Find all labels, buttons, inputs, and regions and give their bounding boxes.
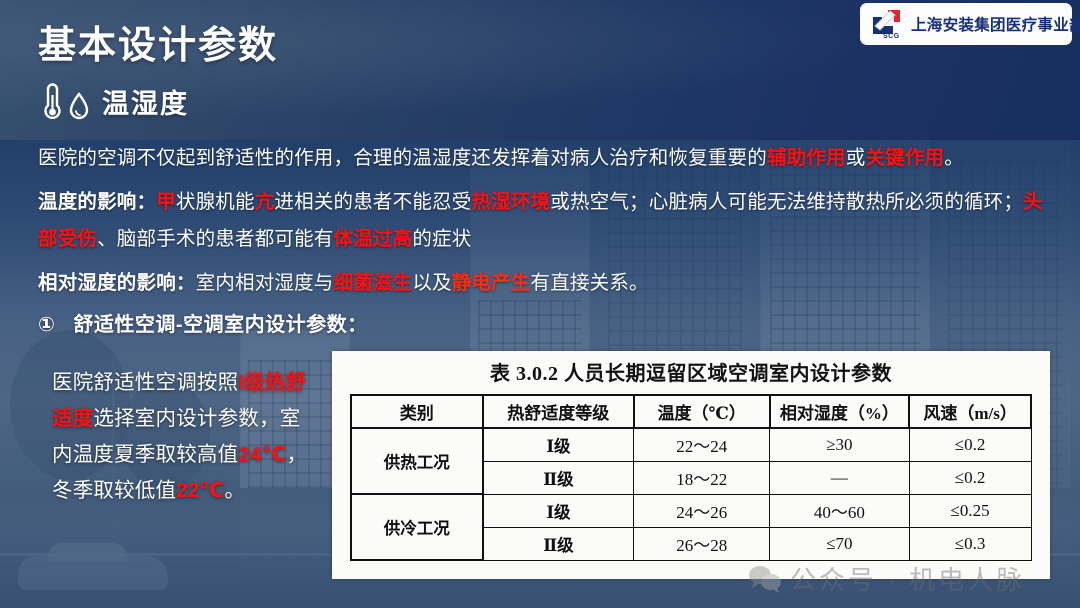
table-header-row: 类别 热舒适度等级 温度（℃） 相对湿度（%） 风速（m/s） [351,395,1031,428]
table-cell-temperature: 24～26 [634,494,770,527]
intro-seg-3: 。 [944,147,964,169]
intro-highlight-2: 关键作用 [865,147,944,169]
table-cell-temperature: 22～24 [634,428,770,461]
table-row: 供冷工况 Ⅰ级 24～26 40～60 ≤0.25 [351,494,1031,527]
hum-seg-1: 室内相对湿度与 [196,272,334,294]
table-cell-grade: Ⅰ级 [483,494,634,527]
humidity-label: 相对湿度的影响： [38,272,196,294]
table-cell-grade: Ⅱ级 [483,461,634,494]
temperature-label: 温度的影响： [38,191,156,213]
table-cell-humidity: — [770,461,910,494]
note-highlight-2: 24℃ [238,443,286,466]
hum-seg-2: 以及 [412,272,451,294]
company-name: 上海安装集团医疗事业部 [911,13,1080,35]
section-heading: 温湿度 [38,82,189,121]
table-cell-grade: Ⅰ级 [483,428,634,461]
table-row: 供热工况 Ⅰ级 22～24 ≥30 ≤0.2 [351,428,1031,461]
table-cell-airspeed: ≤0.2 [909,428,1031,461]
spec-table: 类别 热舒适度等级 温度（℃） 相对湿度（%） 风速（m/s） 供热工况 Ⅰ级 … [350,394,1032,561]
temp-seg-5: 的症状 [412,228,471,250]
temp-seg-4: 、脑部手术的患者都可能有 [97,228,333,250]
scg-logo-icon: SCG [868,9,904,39]
table-cell-temperature: 18～22 [634,461,770,494]
paragraph-temperature: 温度的影响：甲状腺机能亢进相关的患者不能忍受热湿环境或热空气；心脏病人可能无法维… [38,184,1054,258]
table-cell-airspeed: ≤0.25 [909,494,1031,527]
note-seg-4: 。 [224,479,245,502]
table-caption: 表 3.0.2 人员长期逗留区域空调室内设计参数 [332,351,1050,386]
paragraph-humidity: 相对湿度的影响：室内相对湿度与细菌滋生以及静电产生有直接关系。 [38,265,1054,302]
temperature-humidity-icons [38,83,90,121]
note-highlight-3: 22℃ [176,479,224,502]
temp-highlight-3: 热湿环境 [471,191,550,213]
temp-seg-3: 或热空气；心脏病人可能无法维持散热所必须的循环； [550,191,1023,213]
table-header-grade: 热舒适度等级 [483,395,634,428]
temp-seg-1: 状腺机能 [176,191,255,213]
table-cell-humidity: 40～60 [770,494,910,527]
hum-seg-3: 有直接关系。 [531,272,649,294]
left-note: 医院舒适性空调按照I级热舒适度选择室内设计参数，室内温度夏季取较高值24℃，冬季… [52,365,320,509]
temp-highlight-5: 体温过高 [334,228,413,250]
section-heading-label: 温湿度 [102,82,189,121]
table-header-humidity: 相对湿度（%） [770,395,910,428]
table-header-category: 类别 [351,395,483,428]
table-cell-humidity: ≥30 [770,428,910,461]
temp-seg-2: 进相关的患者不能忍受 [274,191,471,213]
table-header-temperature: 温度（℃） [634,395,770,428]
table-cell-temperature: 26～28 [634,527,770,560]
water-droplet-icon [68,91,90,121]
thermometer-icon [38,83,64,121]
temp-highlight-1: 甲 [156,191,176,213]
paragraph-intro: 医院的空调不仅起到舒适性的作用，合理的温湿度还发挥着对病人治疗和恢复重要的辅助作… [38,140,1054,177]
list-item-number: ① [38,314,55,336]
temp-highlight-2: 亢 [255,191,275,213]
table-cell-category: 供冷工况 [351,494,483,560]
slide-root: SCG 上海安装集团医疗事业部 基本设计参数 温湿度 医院的空调不仅起到舒适性的… [0,0,1080,608]
body-text-block: 医院的空调不仅起到舒适性的作用，合理的温湿度还发挥着对病人治疗和恢复重要的辅助作… [38,140,1054,309]
spec-table-panel: 表 3.0.2 人员长期逗留区域空调室内设计参数 类别 热舒适度等级 温度（℃）… [332,351,1050,579]
table-cell-category: 供热工况 [351,428,483,494]
list-item: ①舒适性空调-空调室内设计参数： [38,308,368,337]
table-cell-airspeed: ≤0.3 [909,527,1031,560]
intro-seg-2: 或 [846,147,866,169]
intro-seg-1: 医院的空调不仅起到舒适性的作用，合理的温湿度还发挥着对病人治疗和恢复重要的 [38,147,767,169]
hum-highlight-1: 细菌滋生 [334,272,413,294]
table-header-airspeed: 风速（m/s） [909,395,1031,428]
note-seg-1: 医院舒适性空调按照 [52,371,238,394]
page-title: 基本设计参数 [38,14,278,69]
hum-highlight-2: 静电产生 [452,272,531,294]
intro-highlight-1: 辅助作用 [767,147,846,169]
table-cell-airspeed: ≤0.2 [909,461,1031,494]
table-cell-humidity: ≤70 [770,527,910,560]
list-item-label: 舒适性空调-空调室内设计参数： [73,314,367,336]
table-cell-grade: Ⅱ级 [483,527,634,560]
scg-logo-label: SCG [883,33,900,40]
company-logo: SCG 上海安装集团医疗事业部 [860,3,1072,45]
